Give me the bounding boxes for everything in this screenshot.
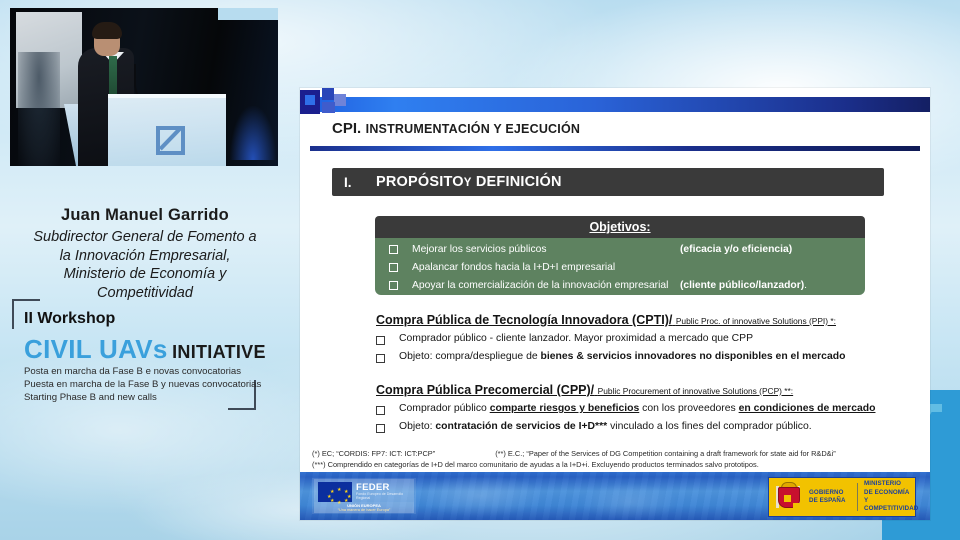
workshop-label: II Workshop <box>24 310 115 328</box>
objectives-heading-text: Objetivos: <box>589 220 650 234</box>
section-bar: I. PROPÓSITOY DEFINICIÓN <box>332 168 884 196</box>
block-cpp-heading-en: Public Procurement of innovative Solutio… <box>598 386 794 396</box>
bullet-item: Comprador público - cliente lanzador. Ma… <box>376 333 845 345</box>
bullet-lead: Comprador público <box>399 403 490 414</box>
bullet-item: Objeto: compra/despliegue de bienes & se… <box>376 351 845 363</box>
eu-flag-icon: ★★★ ★★★ ★★ <box>318 482 352 502</box>
objective-note: (eficacia y/o eficiencia) <box>680 244 792 255</box>
eu-stars-icon: ★★★ ★★★ ★★ <box>327 487 351 503</box>
section-title-main: PROPÓSITO <box>376 174 464 190</box>
slide-header-prefix: CPI. <box>332 120 361 137</box>
speaker-role-line-4: Competitividad <box>0 284 290 303</box>
objective-item: Apalancar fondos hacia la I+D+I empresar… <box>375 258 865 276</box>
feder-logo-bottom: UNIÓN EUROPEA “Una manera de hacer Europ… <box>314 502 414 513</box>
section-title-conj: Y <box>464 177 472 189</box>
feder-logo-top: ★★★ ★★★ ★★ FEDER Fondo Europeo de Desarr… <box>314 479 414 502</box>
slide-header-rule <box>310 146 920 151</box>
podium-logo-icon <box>156 126 185 155</box>
video-silhouette <box>18 52 60 166</box>
bullet-text: Objeto: compra/despliegue de bienes & se… <box>399 351 845 362</box>
bullet-bold: contratación de servicios de I+D*** <box>435 421 607 432</box>
objective-text: Mejorar los servicios públicos <box>412 244 680 255</box>
gobierno-label: GOBIERNO DE ESPAÑA <box>809 489 853 506</box>
bullet-tail: vinculado a los fines del comprador públ… <box>607 421 811 432</box>
objective-note-tail: . <box>804 280 807 291</box>
speaker-role-line-1: Subdirector General de Fomento a <box>0 228 290 247</box>
gobierno-de-espana-logo: GOBIERNO DE ESPAÑA MINISTERIO DE ECONOMÍ… <box>768 477 916 517</box>
bullet-bold: bienes & servicios innovadores no dispon… <box>541 351 846 362</box>
block-cpti-heading: Compra Pública de Tecnología Innovadora … <box>376 313 845 327</box>
section-title-rest: DEFINICIÓN <box>476 174 562 190</box>
bullet-lead: Objeto: <box>399 421 435 432</box>
section-number: I. <box>344 175 376 190</box>
checkbox-icon <box>389 281 398 290</box>
decorative-square-5 <box>322 102 335 113</box>
block-cpp-heading: Compra Pública Precomercial (CPP)/ Publi… <box>376 383 875 397</box>
slide-footer: ★★★ ★★★ ★★ FEDER Fondo Europeo de Desarr… <box>300 472 930 520</box>
decorative-square-3 <box>322 88 334 100</box>
slide-top-gradient-bar <box>308 97 930 112</box>
block-cpp: Compra Pública Precomercial (CPP)/ Publi… <box>376 383 875 433</box>
bullet-text: Objeto: contratación de servicios de I+D… <box>399 421 812 432</box>
footnote-line-2: (***) Comprendido en categorías de I+D d… <box>312 459 912 470</box>
checkbox-icon <box>376 424 385 433</box>
bullet-text: Comprador público - cliente lanzador. Ma… <box>399 333 753 344</box>
block-cpti-heading-en: Public Proc. of innovative Solutions (PP… <box>676 316 836 326</box>
objectives-box: Mejorar los servicios públicos (eficacia… <box>375 238 865 295</box>
objectives-heading: Objetivos: <box>375 216 865 238</box>
slide-footnotes: (*) EC; “CORDIS: FP7: ICT: ICT:PCP”(**) … <box>312 448 912 470</box>
ministerio-label: MINISTERIO DE ECONOMÍA Y COMPETITIVIDAD <box>864 480 918 513</box>
bullet-lead: Objeto: compra/despliegue de <box>399 351 541 362</box>
speaker-video-thumbnail[interactable] <box>10 8 278 166</box>
event-subtitles: Posta en marcha da Fase B e novas convoc… <box>24 365 261 405</box>
bullet-item: Comprador público comparte riesgos y ben… <box>376 403 875 415</box>
event-subtitle-en: Starting Phase B and new calls <box>24 391 261 404</box>
decorative-square-4 <box>334 94 346 106</box>
speaker-tie <box>109 56 117 96</box>
event-subtitle-gl: Posta en marcha da Fase B e novas convoc… <box>24 365 261 378</box>
decorative-square-2 <box>305 95 315 105</box>
event-brand: CIVIL UAVs INITIATIVE <box>24 334 266 365</box>
section-title: PROPÓSITOY DEFINICIÓN <box>376 174 562 190</box>
screenshot-root: Juan Manuel Garrido Subdirector General … <box>0 0 960 540</box>
block-cpti: Compra Pública de Tecnología Innovadora … <box>376 313 845 363</box>
logo-divider <box>857 483 858 511</box>
speaker-role-line-3: Ministerio de Economía y <box>0 265 290 284</box>
objective-text: Apoyar la comercialización de la innovac… <box>412 280 680 291</box>
checkbox-icon <box>376 354 385 363</box>
footnote-1b: (**) E.C.; “Paper of the Services of DG … <box>495 449 836 458</box>
spain-coat-of-arms-icon <box>775 482 801 512</box>
objective-item: Mejorar los servicios públicos (eficacia… <box>375 240 865 258</box>
bullet-item: Objeto: contratación de servicios de I+D… <box>376 421 875 433</box>
brand-secondary: INITIATIVE <box>172 342 266 362</box>
footnote-1a: (*) EC; “CORDIS: FP7: ICT: ICT:PCP” <box>312 449 435 458</box>
slide-header-text: INSTRUMENTACIÓN Y EJECUCIÓN <box>366 122 580 136</box>
feder-subtitle: Fondo Europeo de Desarrollo Regional <box>356 492 414 501</box>
bullet-mid: con los proveedores <box>639 403 738 414</box>
video-corner-patch <box>218 8 278 20</box>
checkbox-icon <box>389 245 398 254</box>
objective-item: Apoyar la comercialización de la innovac… <box>375 276 865 294</box>
feder-slogan: “Una manera de hacer Europa” <box>314 508 414 512</box>
objective-note: (cliente público/lanzador) <box>680 280 804 291</box>
feder-logo: ★★★ ★★★ ★★ FEDER Fondo Europeo de Desarr… <box>312 478 416 514</box>
presentation-slide[interactable]: CPI. INSTRUMENTACIÓN Y EJECUCIÓN I. PROP… <box>300 88 930 520</box>
speaker-role: Subdirector General de Fomento a la Inno… <box>0 228 290 302</box>
checkbox-icon <box>376 406 385 415</box>
bullet-text: Comprador público comparte riesgos y ben… <box>399 403 875 414</box>
speaker-info: Juan Manuel Garrido Subdirector General … <box>0 206 290 302</box>
footnote-line-1: (*) EC; “CORDIS: FP7: ICT: ICT:PCP”(**) … <box>312 448 912 459</box>
speaker-role-line-2: la Innovación Empresarial, <box>0 247 290 266</box>
checkbox-icon <box>376 336 385 345</box>
video-stage-light <box>230 106 276 160</box>
bullet-bold-underline-2: en condiciones de mercado <box>739 403 876 414</box>
brand-primary: CIVIL UAVs <box>24 334 168 364</box>
objective-text: Apalancar fondos hacia la I+D+I empresar… <box>412 262 680 273</box>
slide-header-title: CPI. INSTRUMENTACIÓN Y EJECUCIÓN <box>332 120 580 138</box>
speaker-name: Juan Manuel Garrido <box>0 206 290 225</box>
block-cpp-heading-es: Compra Pública Precomercial (CPP)/ <box>376 383 594 397</box>
podium <box>108 94 226 166</box>
speaker-hair <box>92 22 122 39</box>
event-subtitle-es: Puesta en marcha de la Fase B y nuevas c… <box>24 378 261 391</box>
checkbox-icon <box>389 263 398 272</box>
bullet-bold-underline: comparte riesgos y beneficios <box>490 403 640 414</box>
block-cpti-heading-es: Compra Pública de Tecnología Innovadora … <box>376 313 672 327</box>
